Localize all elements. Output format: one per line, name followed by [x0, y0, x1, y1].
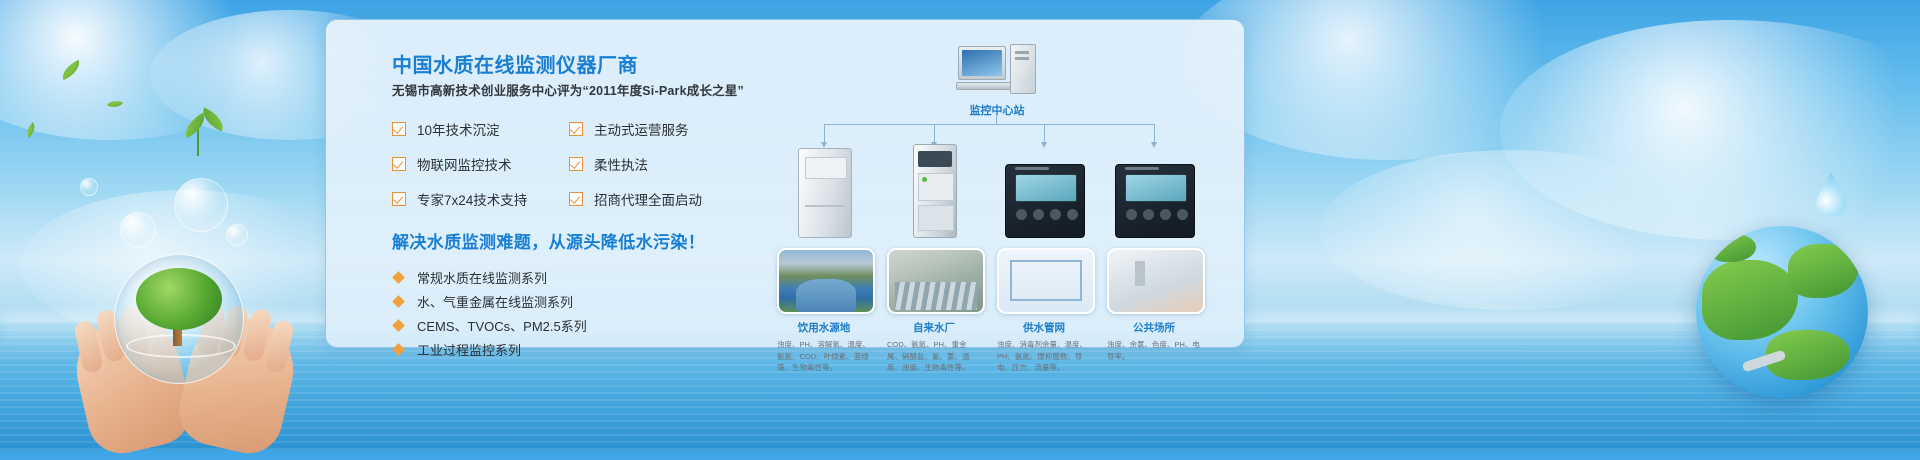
- checkbox-icon: [392, 192, 406, 206]
- monitoring-center-computer-icon: [958, 44, 1036, 92]
- panel-analyzer-image[interactable]: [1115, 164, 1195, 238]
- scene-photo: [777, 248, 875, 314]
- monitor-icon: [958, 46, 1006, 80]
- checkbox-icon: [392, 122, 406, 136]
- connector-line: [824, 124, 825, 142]
- scene-photo: [887, 248, 985, 314]
- feature-label: 招商代理全面启动: [594, 189, 702, 209]
- tree-canopy: [136, 268, 222, 330]
- scene-card[interactable]: 饮用水源地 浊度、PH、溶解氧、温度、氨氮、COD、叶绿素、蓝绿藻、生物毒性等。: [777, 248, 871, 374]
- system-diagram: 监控中心站 饮用水源地 浊度、PH、溶解氧、温度、氨氮、COD、叶绿素、蓝绿藻: [766, 32, 1236, 344]
- hands-holding-tree-illustration: [80, 250, 290, 450]
- sprout-icon: [186, 108, 232, 160]
- product-line-label: CEMS、TVOCs、PM2.5系列: [417, 316, 587, 335]
- product-line-label: 常规水质在线监测系列: [417, 268, 547, 287]
- list-item[interactable]: 常规水质在线监测系列: [394, 265, 587, 289]
- checkbox-icon: [392, 157, 406, 171]
- scene-description: 浊度、PH、溶解氧、温度、氨氮、COD、叶绿素、蓝绿藻、生物毒性等。: [777, 339, 871, 374]
- bubble-icon: [80, 178, 98, 196]
- product-line-list: 常规水质在线监测系列 水、气重金属在线监测系列 CEMS、TVOCs、PM2.5…: [394, 265, 587, 361]
- green-earth-illustration: [1696, 226, 1868, 398]
- panel-analyzer-image[interactable]: [1005, 164, 1085, 238]
- cloud-shape: [1320, 150, 1700, 310]
- connector-line: [824, 124, 1154, 125]
- scene-name: 饮用水源地: [777, 320, 871, 335]
- connector-line: [1154, 124, 1155, 142]
- connector-line: [1044, 124, 1045, 142]
- diamond-bullet-icon: [392, 271, 405, 284]
- continent-shape: [1710, 234, 1756, 262]
- page-title: 中国水质在线监测仪器厂商: [392, 49, 638, 78]
- bubble-icon: [226, 224, 248, 246]
- checkbox-icon: [569, 192, 583, 206]
- device-row: [766, 142, 1236, 238]
- product-line-label: 水、气重金属在线监测系列: [417, 292, 573, 311]
- scene-name: 供水管网: [997, 320, 1091, 335]
- monitoring-center-label: 监控中心站: [926, 102, 1068, 118]
- scene-description: COD、氨氮、PH、重金属、硝酸盐、氟、氯、温度、浊度、生物毒性等。: [887, 339, 981, 374]
- scene-description: 浊度、消毒剂余量、温度、PH、氨氮、厚抑菌数、导电、压力、流量等。: [997, 339, 1091, 374]
- pc-tower-icon: [1010, 44, 1036, 94]
- feature-label: 10年技术沉淀: [417, 119, 500, 139]
- diamond-bullet-icon: [392, 343, 405, 356]
- keyboard-icon: [956, 82, 1012, 90]
- scene-name: 自来水厂: [887, 320, 981, 335]
- scene-card[interactable]: 供水管网 浊度、消毒剂余量、温度、PH、氨氮、厚抑菌数、导电、压力、流量等。: [997, 248, 1091, 374]
- list-item[interactable]: 水、气重金属在线监测系列: [394, 289, 587, 313]
- scene-photo: [997, 248, 1095, 314]
- feature-label: 主动式运营服务: [594, 119, 689, 139]
- rack-analyzer-image[interactable]: [913, 144, 957, 238]
- bubble-icon: [174, 178, 228, 232]
- bubble-icon: [120, 212, 156, 248]
- feature-label: 专家7x24技术支持: [417, 189, 527, 209]
- continent-shape: [1702, 260, 1798, 340]
- scene-card[interactable]: 公共场所 浊度、余氯、色度、PH、电导率。: [1107, 248, 1201, 362]
- scene-card[interactable]: 自来水厂 COD、氨氮、PH、重金属、硝酸盐、氟、氯、温度、浊度、生物毒性等。: [887, 248, 981, 374]
- banner-content-panel: 中国水质在线监测仪器厂商 无锡市高新技术创业服务中心评为“2011年度Si-Pa…: [325, 19, 1245, 348]
- scene-description: 浊度、余氯、色度、PH、电导率。: [1107, 339, 1201, 362]
- diamond-bullet-icon: [392, 295, 405, 308]
- diamond-bullet-icon: [392, 319, 405, 332]
- continent-shape: [1788, 244, 1858, 298]
- list-item[interactable]: CEMS、TVOCs、PM2.5系列: [394, 313, 587, 337]
- page-subtitle: 无锡市高新技术创业服务中心评为“2011年度Si-Park成长之星”: [392, 80, 744, 99]
- scene-photo: [1107, 248, 1205, 314]
- section-title: 解决水质监测难题，从源头降低水污染！: [392, 228, 705, 253]
- connector-line: [934, 124, 935, 142]
- list-item[interactable]: 工业过程监控系列: [394, 337, 587, 361]
- cabinet-analyzer-image[interactable]: [798, 148, 852, 238]
- checkbox-icon: [569, 122, 583, 136]
- feature-label: 柔性执法: [594, 154, 648, 174]
- checkbox-icon: [569, 157, 583, 171]
- product-line-label: 工业过程监控系列: [417, 340, 521, 359]
- scene-name: 公共场所: [1107, 320, 1201, 335]
- feature-label: 物联网监控技术: [417, 154, 512, 174]
